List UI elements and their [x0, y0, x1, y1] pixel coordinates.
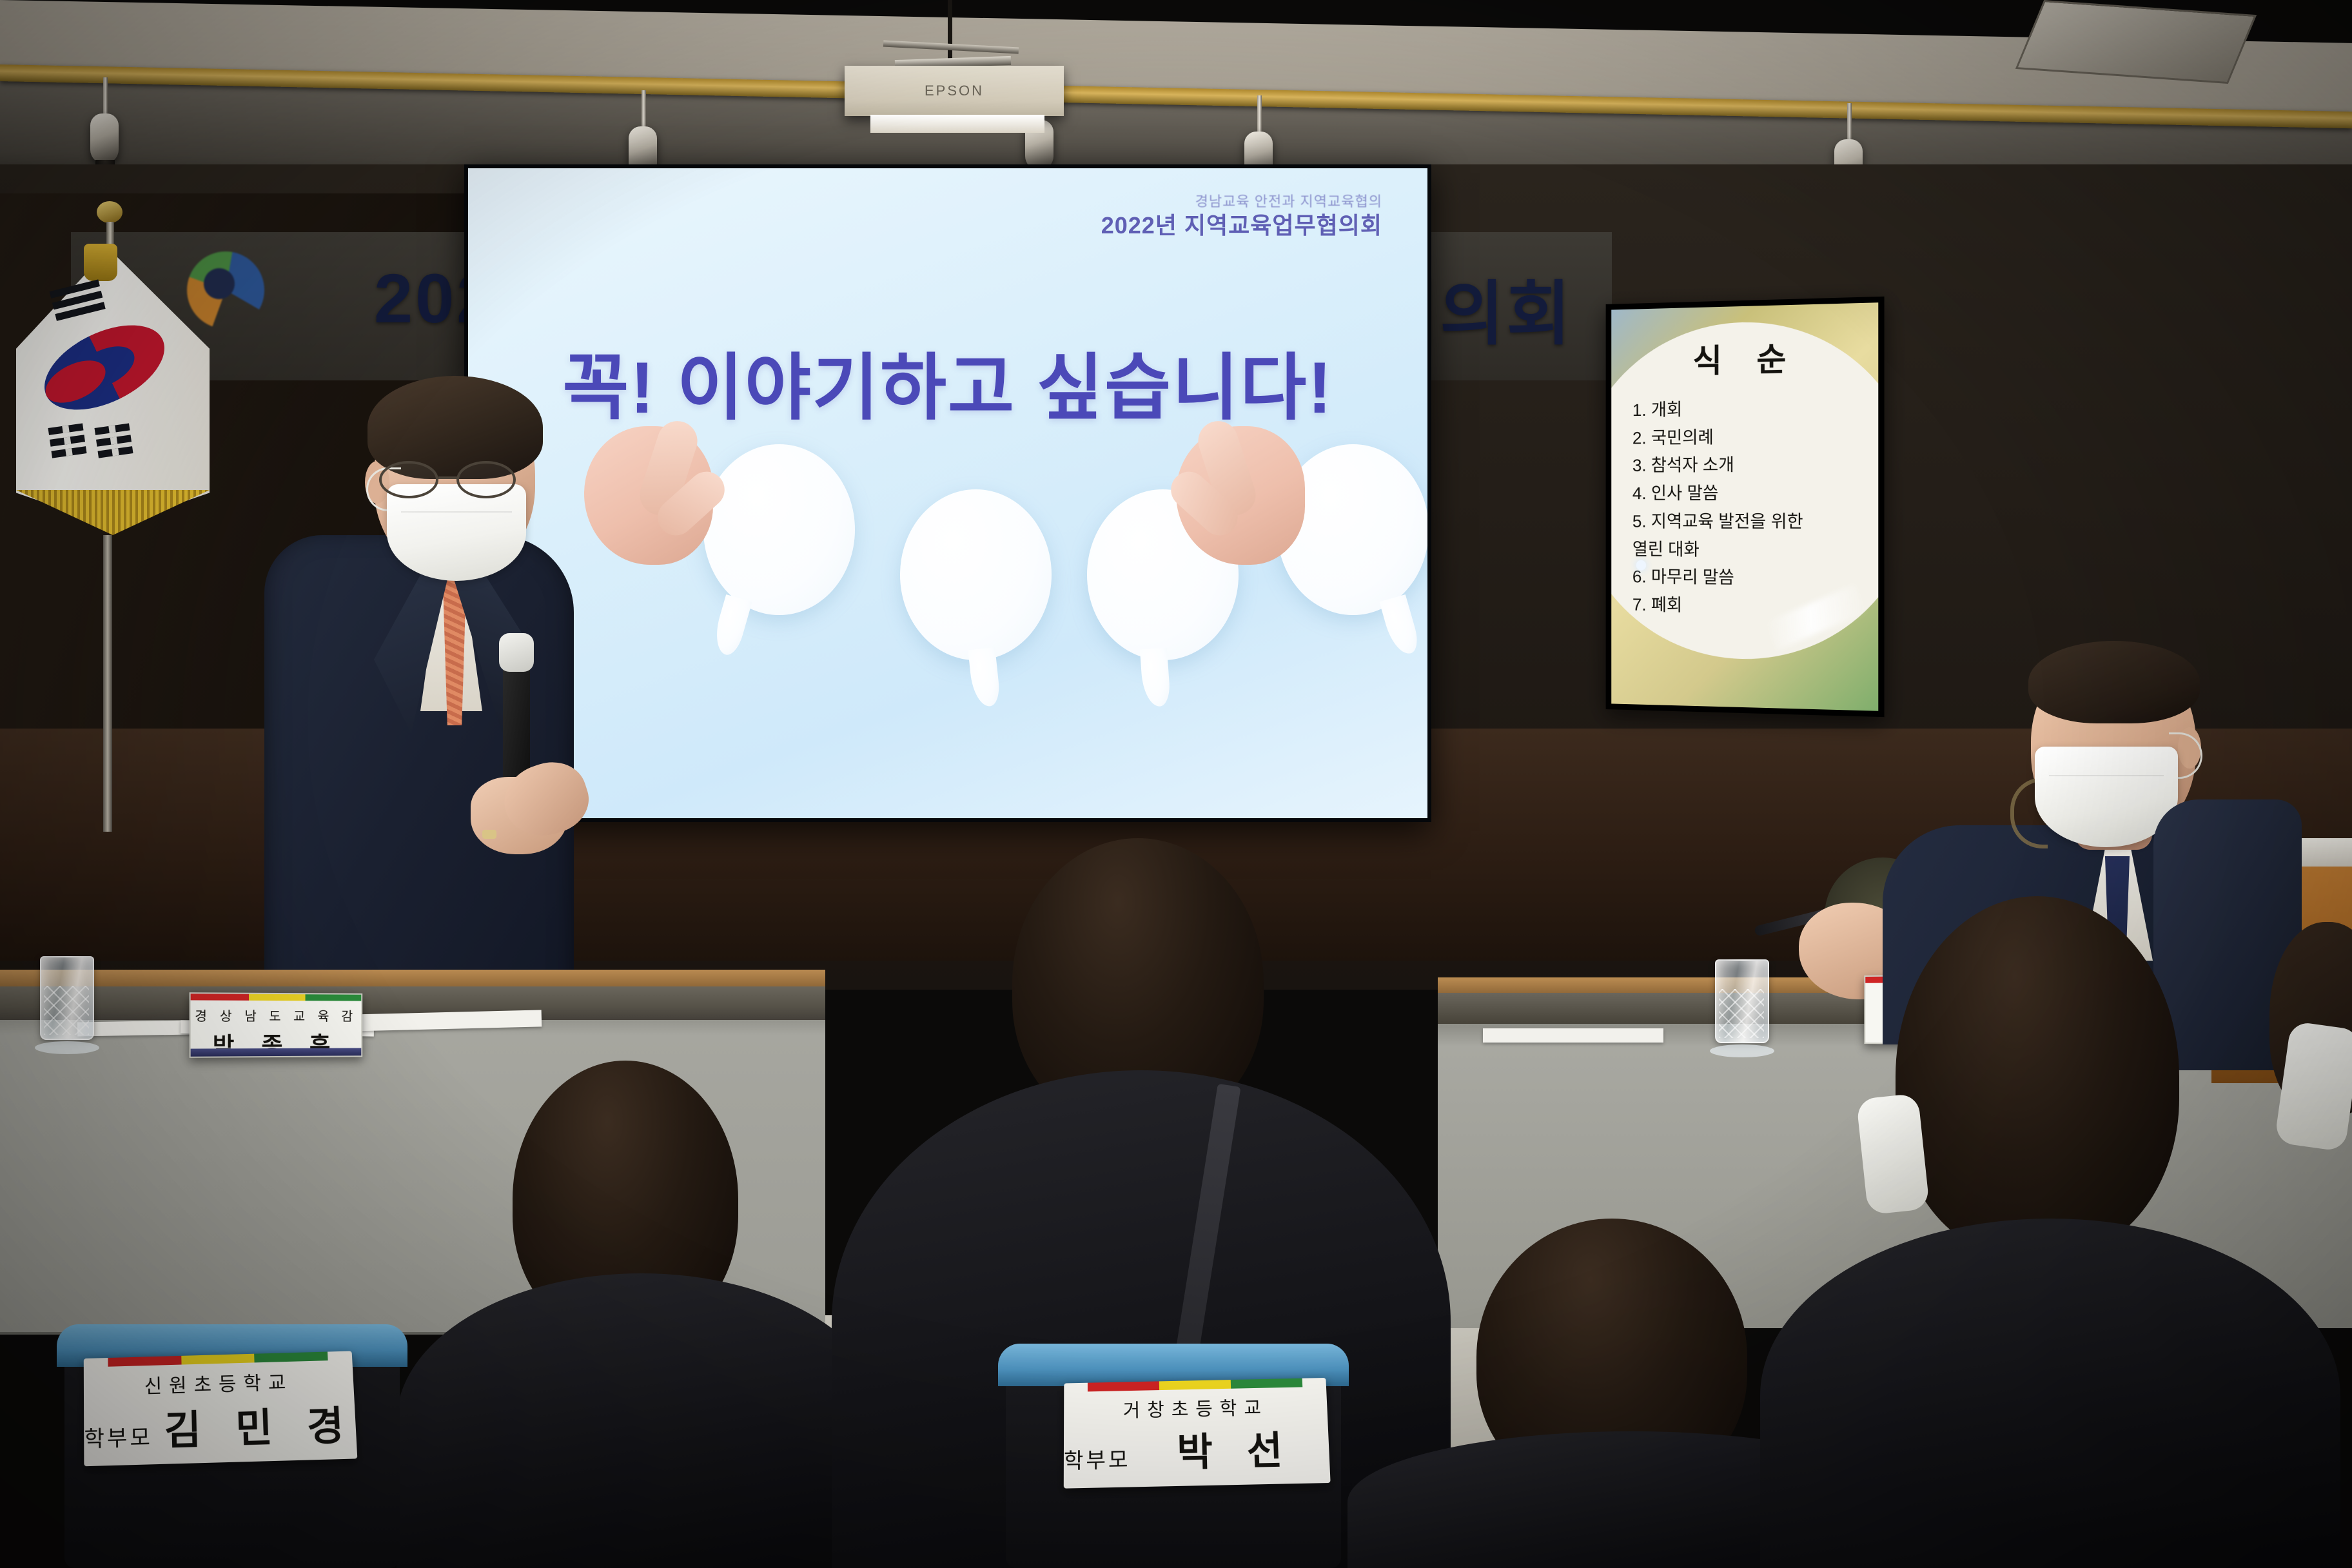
audience-head: [1896, 896, 2179, 1257]
agenda-item: 4. 인사 말씀: [1632, 480, 1863, 508]
agenda-item: 2. 국민의례: [1632, 422, 1863, 453]
chair-nameplate-role: 학부모: [1064, 1442, 1131, 1475]
korean-flag: [6, 213, 219, 574]
agenda-item: 5. 지역교육 발전을 위한: [1632, 508, 1863, 537]
trigram-gam-icon: [48, 424, 88, 463]
speaker-person: [277, 371, 600, 1015]
slide-header: 경남교육 안전과 지역교육협의 2022년 지역교육업무협의회: [1101, 193, 1382, 240]
agenda-poster-title: 식 순: [1632, 332, 1863, 383]
chair-nameplate-park-sun-hee: 거창초등학교 학부모 박 선 희: [1064, 1378, 1331, 1489]
nameplate-org: 경 상 남 도 교 육 감: [191, 1006, 362, 1024]
slide-title: 꼭! 이야기하고 싶습니다!: [468, 329, 1427, 434]
projector-brand-label: EPSON: [925, 83, 984, 99]
agenda-item: 6. 마무리 말씀: [1632, 563, 1863, 594]
flag-stand: [103, 535, 112, 832]
table-papers: [1483, 1028, 1663, 1043]
projector-cable: [948, 0, 952, 63]
projector-body: EPSON: [845, 66, 1064, 116]
audience-shoulders: [1760, 1219, 2340, 1568]
chair-nameplate-kim-min-kyung: 신원초등학교 학부모 김 민 경: [84, 1351, 358, 1466]
trigram-gon-icon: [95, 424, 134, 463]
audience-shoulders: [397, 1273, 887, 1568]
agenda-item: 3. 참석자 소개: [1632, 451, 1863, 480]
slide-header-main: 2022년 지역교육업무협의회: [1101, 211, 1382, 240]
speech-bubble-icon: [900, 489, 1052, 660]
projector-lens: [870, 115, 1044, 133]
agenda-item-continuation: 열린 대화: [1632, 536, 1863, 565]
audience-face-mask: [1856, 1093, 1930, 1215]
nameplate-color-stripe: [191, 994, 362, 1001]
speech-bubble-icon: [703, 444, 855, 615]
official-hair: [2028, 641, 2200, 723]
nameplate-superintendent: 경 상 남 도 교 육 감 박 종 훈: [190, 992, 363, 1058]
ceiling-vent: [2015, 0, 2257, 84]
conference-room-photo: EPSON 2022 협의회 경남교육 안전과 지역교육협의 2022년 지역교…: [0, 0, 2352, 1568]
flag-tassel: [84, 244, 117, 281]
chair-nameplate-name: 김 민 경: [164, 1393, 357, 1456]
flag-finial: [97, 201, 122, 223]
presentation-slide: 경남교육 안전과 지역교육협의 2022년 지역교육업무협의회 꼭! 이야기하고…: [468, 168, 1427, 818]
agenda-poster-list: 1. 개회 2. 국민의례 3. 참석자 소개 4. 인사 말씀 5. 지역교육…: [1632, 393, 1863, 623]
water-glass: [1715, 959, 1769, 1057]
speaker-ring: [482, 830, 496, 839]
hand-left-illustration: [584, 426, 720, 574]
spotlight-icon: [90, 77, 120, 174]
hand-right-illustration: [1176, 426, 1311, 574]
agenda-item: 1. 개회: [1632, 393, 1863, 424]
chair-nameplate-role: 학부모: [84, 1420, 153, 1453]
poster-light-reflection: [1636, 560, 1646, 571]
slide-header-sub: 경남교육 안전과 지역교육협의: [1101, 193, 1382, 211]
water-glass: [40, 956, 94, 1054]
nameplate-base: [191, 1048, 362, 1056]
chair-nameplate-name: 박 선 희: [1142, 1418, 1331, 1489]
speaker-eyeglasses-icon: [375, 461, 536, 500]
flag-fringe: [16, 490, 210, 535]
agenda-poster: 식 순 1. 개회 2. 국민의례 3. 참석자 소개 4. 인사 말씀 5. …: [1606, 297, 1885, 717]
projection-screen: 경남교육 안전과 지역교육협의 2022년 지역교육업무협의회 꼭! 이야기하고…: [464, 164, 1431, 822]
